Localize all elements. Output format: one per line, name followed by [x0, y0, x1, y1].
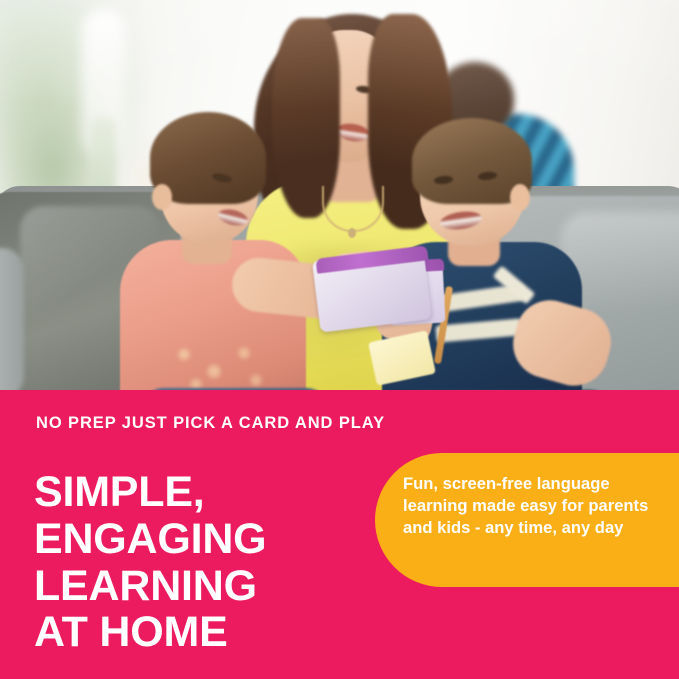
callout-text: Fun, screen-free language learning made …: [403, 473, 661, 539]
photo-background-bottle: [90, 118, 116, 196]
promo-panel: NO PREP JUST PICK A CARD AND PLAY SIMPLE…: [0, 390, 679, 679]
callout-badge: Fun, screen-free language learning made …: [375, 453, 679, 587]
photo-person-boy-left: [126, 112, 346, 390]
eyebrow-text: NO PREP JUST PICK A CARD AND PLAY: [36, 414, 385, 433]
boy-left-ear: [152, 184, 172, 210]
poster: NO PREP JUST PICK A CARD AND PLAY SIMPLE…: [0, 0, 679, 679]
photo-sofa-arm: [0, 248, 24, 390]
boy-left-shirt-pattern: [160, 334, 280, 390]
page-title: SIMPLE, ENGAGING LEARNING AT HOME: [34, 469, 394, 656]
boy-right-ear: [510, 184, 530, 211]
mother-pendant: [348, 228, 356, 238]
hero-photo: [0, 0, 679, 390]
